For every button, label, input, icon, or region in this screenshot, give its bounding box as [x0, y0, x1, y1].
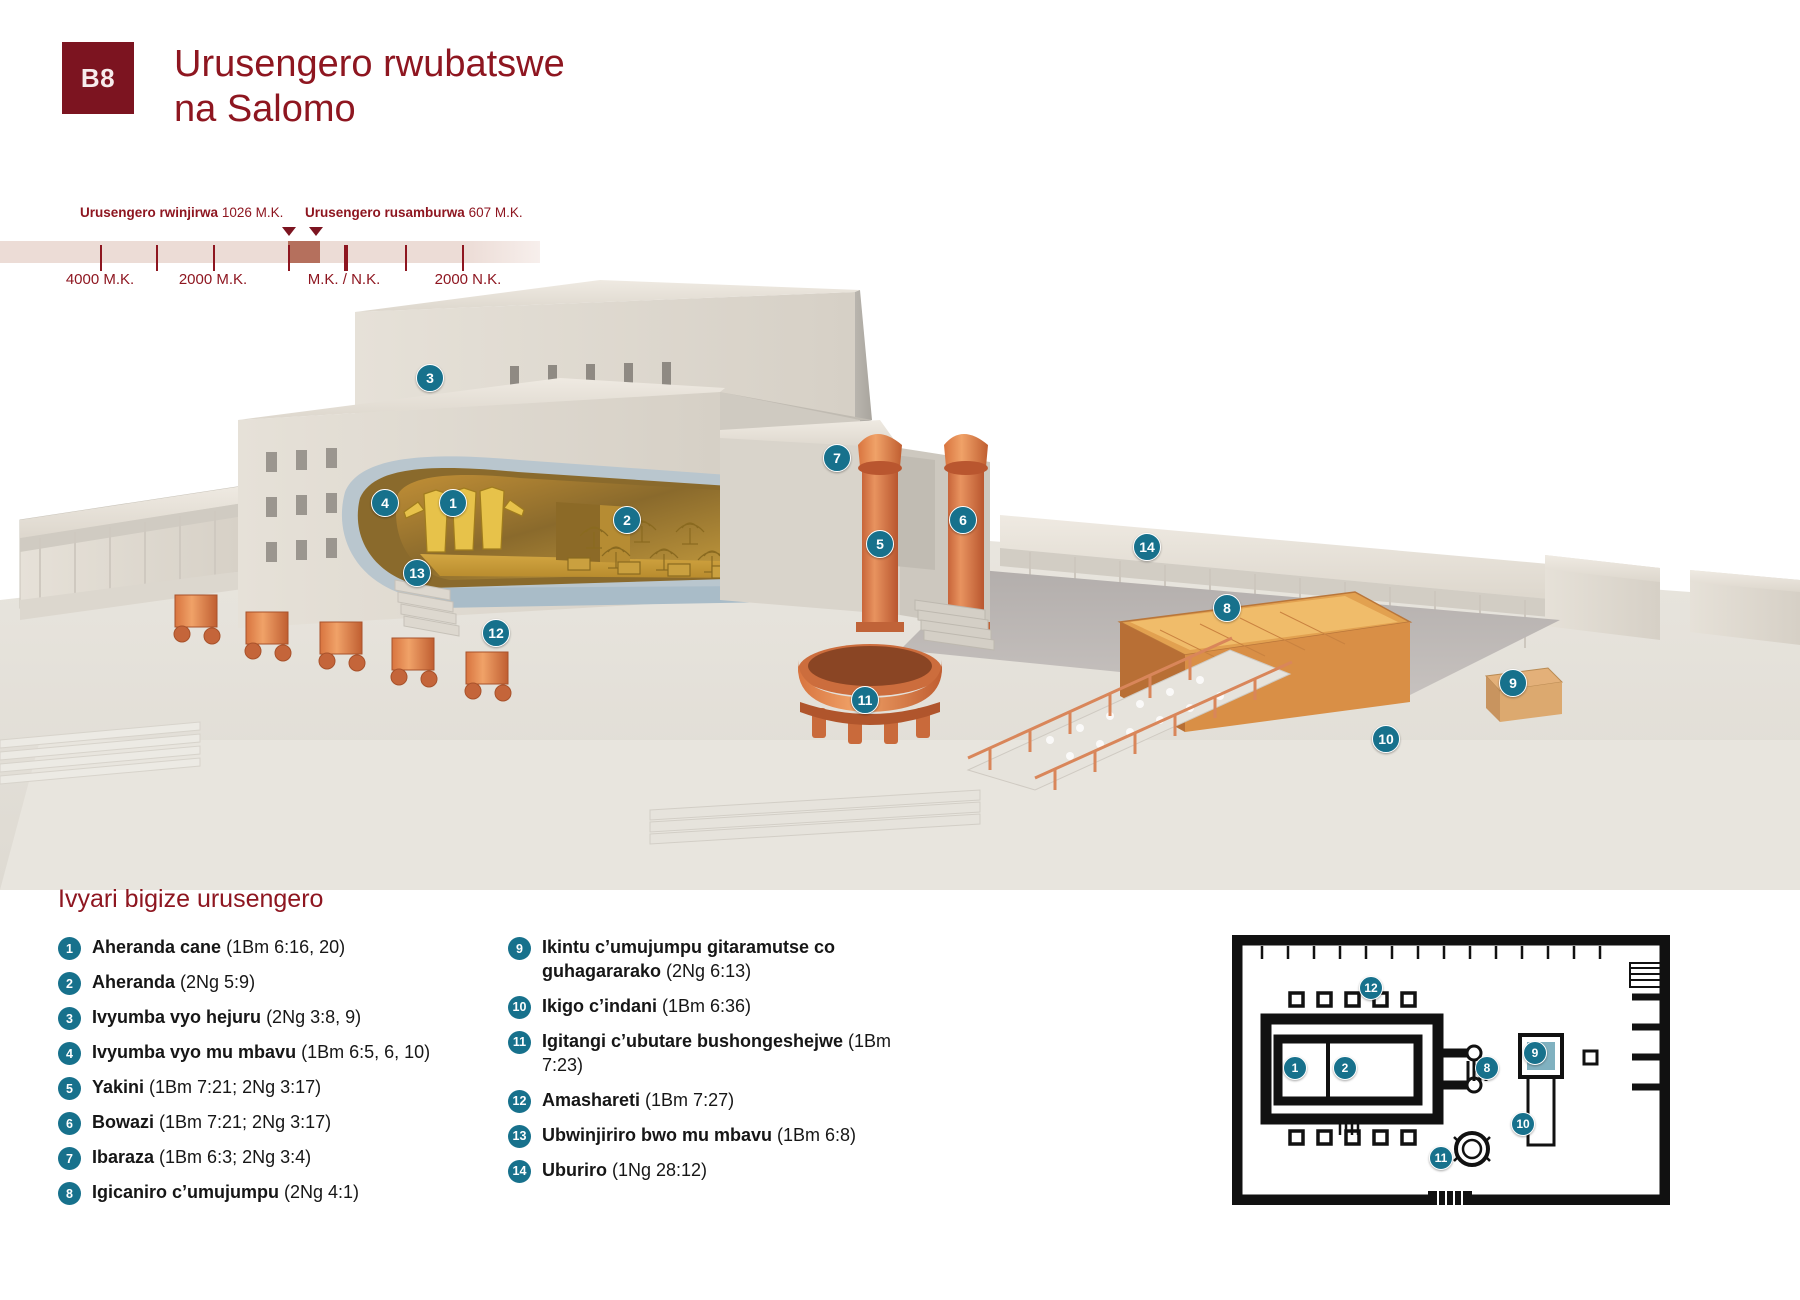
- temple-illustration: [0, 270, 1800, 870]
- legend-name-11: Igitangi c’ubutare bushongeshejwe: [542, 1031, 843, 1051]
- legend-marker-3: 3: [58, 1007, 81, 1030]
- legend-name-6: Bowazi: [92, 1112, 154, 1132]
- legend-marker-2: 2: [58, 972, 81, 995]
- legend-text-5: Yakini (1Bm 7:21; 2Ng 3:17): [92, 1076, 321, 1100]
- legend-column-right: 9Ikintu c’umujumpu gitaramutse co guhaga…: [508, 936, 908, 1216]
- legend-ref-1: (1Bm 6:16, 20): [221, 937, 345, 957]
- legend-marker-4: 4: [58, 1042, 81, 1065]
- timeline-event-1-label: Urusengero rusamburwa: [305, 205, 465, 220]
- floorplan-marker-11: 11: [1429, 1146, 1453, 1170]
- temple-illustration-svg: [0, 270, 1800, 890]
- legend-item-2: 2Aheranda (2Ng 5:9): [58, 971, 458, 995]
- page-title-line2: na Salomo: [174, 87, 565, 132]
- legend-text-10: Ikigo c’indani (1Bm 6:36): [542, 995, 751, 1019]
- page-header: B8 Urusengero rwubatswe na Salomo: [62, 42, 565, 132]
- legend-ref-7: (1Bm 6:3; 2Ng 3:4): [154, 1147, 311, 1167]
- floorplan-marker-1: 1: [1283, 1056, 1307, 1080]
- legend-item-11: 11Igitangi c’ubutare bushongeshejwe (1Bm…: [508, 1030, 908, 1078]
- legend-item-5: 5Yakini (1Bm 7:21; 2Ng 3:17): [58, 1076, 458, 1100]
- legend-marker-5: 5: [58, 1077, 81, 1100]
- timeline-tick: [288, 245, 290, 271]
- legend-marker-7: 7: [58, 1147, 81, 1170]
- legend-marker-13: 13: [508, 1125, 531, 1148]
- legend-name-7: Ibaraza: [92, 1147, 154, 1167]
- floorplan-marker-12: 12: [1359, 976, 1383, 1000]
- legend-name-3: Ivyumba vyo hejuru: [92, 1007, 261, 1027]
- legend-text-7: Ibaraza (1Bm 6:3; 2Ng 3:4): [92, 1146, 311, 1170]
- timeline-highlight-span: [288, 241, 320, 263]
- legend-item-10: 10Ikigo c’indani (1Bm 6:36): [508, 995, 908, 1019]
- legend-text-12: Amashareti (1Bm 7:27): [542, 1089, 734, 1113]
- timeline: Urusengero rwinjirwa 1026 M.K. Urusenger…: [0, 205, 540, 275]
- legend-ref-13: (1Bm 6:8): [772, 1125, 856, 1145]
- timeline-tick: [405, 245, 407, 271]
- legend-text-9: Ikintu c’umujumpu gitaramutse co guhagar…: [542, 936, 908, 984]
- legend-marker-6: 6: [58, 1112, 81, 1135]
- legend: Ivyari bigize urusengero 1Aheranda cane …: [58, 885, 958, 1216]
- timeline-tick: [462, 245, 464, 271]
- floorplan-marker-9: 9: [1523, 1041, 1547, 1065]
- porch-entry: [895, 455, 935, 570]
- legend-marker-9: 9: [508, 937, 531, 960]
- legend-item-3: 3Ivyumba vyo hejuru (2Ng 3:8, 9): [58, 1006, 458, 1030]
- legend-title: Ivyari bigize urusengero: [58, 885, 958, 914]
- legend-item-12: 12Amashareti (1Bm 7:27): [508, 1089, 908, 1113]
- legend-ref-2: (2Ng 5:9): [175, 972, 255, 992]
- legend-text-4: Ivyumba vyo mu mbavu (1Bm 6:5, 6, 10): [92, 1041, 430, 1065]
- legend-marker-8: 8: [58, 1182, 81, 1205]
- floorplan-inset: 1212891011: [1232, 935, 1670, 1205]
- illustration-marker-13: 13: [403, 559, 431, 587]
- legend-marker-10: 10: [508, 996, 531, 1019]
- legend-marker-12: 12: [508, 1090, 531, 1113]
- timeline-event-0-year: 1026 M.K.: [222, 205, 284, 220]
- legend-name-13: Ubwinjiriro bwo mu mbavu: [542, 1125, 772, 1145]
- legend-item-13: 13Ubwinjiriro bwo mu mbavu (1Bm 6:8): [508, 1124, 908, 1148]
- legend-ref-5: (1Bm 7:21; 2Ng 3:17): [144, 1077, 321, 1097]
- illustration-marker-3: 3: [416, 364, 444, 392]
- timeline-marker-arrow: [282, 227, 296, 236]
- timeline-bar: [0, 241, 540, 263]
- illustration-marker-12: 12: [482, 619, 510, 647]
- section-badge: B8: [62, 42, 134, 114]
- legend-item-6: 6Bowazi (1Bm 7:21; 2Ng 3:17): [58, 1111, 458, 1135]
- legend-item-9: 9Ikintu c’umujumpu gitaramutse co guhaga…: [508, 936, 908, 984]
- legend-ref-14: (1Ng 28:12): [607, 1160, 707, 1180]
- page-title-line1: Urusengero rwubatswe: [174, 42, 565, 87]
- illustration-marker-9: 9: [1499, 669, 1527, 697]
- illustration-marker-5: 5: [866, 530, 894, 558]
- floorplan-marker-2: 2: [1333, 1056, 1357, 1080]
- legend-marker-11: 11: [508, 1031, 531, 1054]
- illustration-marker-14: 14: [1133, 533, 1161, 561]
- timeline-marker-arrow: [309, 227, 323, 236]
- legend-item-7: 7Ibaraza (1Bm 6:3; 2Ng 3:4): [58, 1146, 458, 1170]
- illustration-marker-2: 2: [613, 506, 641, 534]
- legend-text-8: Igicaniro c’umujumpu (2Ng 4:1): [92, 1181, 359, 1205]
- timeline-tick-major: [344, 245, 348, 271]
- floorplan-marker-10: 10: [1511, 1112, 1535, 1136]
- legend-text-14: Uburiro (1Ng 28:12): [542, 1159, 707, 1183]
- legend-name-4: Ivyumba vyo mu mbavu: [92, 1042, 296, 1062]
- timeline-event-1: Urusengero rusamburwa 607 M.K.: [305, 205, 523, 220]
- legend-ref-8: (2Ng 4:1): [279, 1182, 359, 1202]
- timeline-tick: [156, 245, 158, 271]
- legend-column-left: 1Aheranda cane (1Bm 6:16, 20)2Aheranda (…: [58, 936, 458, 1216]
- legend-text-1: Aheranda cane (1Bm 6:16, 20): [92, 936, 345, 960]
- timeline-event-1-year: 607 M.K.: [469, 205, 523, 220]
- legend-marker-1: 1: [58, 937, 81, 960]
- timeline-event-0-label: Urusengero rwinjirwa: [80, 205, 218, 220]
- legend-item-14: 14Uburiro (1Ng 28:12): [508, 1159, 908, 1183]
- legend-name-1: Aheranda cane: [92, 937, 221, 957]
- illustration-marker-1: 1: [439, 489, 467, 517]
- legend-ref-9: (2Ng 6:13): [661, 961, 751, 981]
- legend-name-14: Uburiro: [542, 1160, 607, 1180]
- legend-text-13: Ubwinjiriro bwo mu mbavu (1Bm 6:8): [542, 1124, 856, 1148]
- page-title: Urusengero rwubatswe na Salomo: [174, 42, 565, 132]
- legend-item-4: 4Ivyumba vyo mu mbavu (1Bm 6:5, 6, 10): [58, 1041, 458, 1065]
- illustration-marker-6: 6: [949, 506, 977, 534]
- page-root: B8 Urusengero rwubatswe na Salomo Urusen…: [0, 0, 1800, 1300]
- floorplan-marker-8: 8: [1475, 1056, 1499, 1080]
- legend-item-8: 8Igicaniro c’umujumpu (2Ng 4:1): [58, 1181, 458, 1205]
- timeline-tick: [213, 245, 215, 271]
- legend-ref-6: (1Bm 7:21; 2Ng 3:17): [154, 1112, 331, 1132]
- legend-text-11: Igitangi c’ubutare bushongeshejwe (1Bm 7…: [542, 1030, 908, 1078]
- illustration-marker-11: 11: [851, 686, 879, 714]
- timeline-tick: [100, 245, 102, 271]
- illustration-marker-10: 10: [1372, 725, 1400, 753]
- legend-marker-14: 14: [508, 1160, 531, 1183]
- legend-name-8: Igicaniro c’umujumpu: [92, 1182, 279, 1202]
- legend-ref-12: (1Bm 7:27): [640, 1090, 734, 1110]
- legend-text-6: Bowazi (1Bm 7:21; 2Ng 3:17): [92, 1111, 331, 1135]
- legend-name-5: Yakini: [92, 1077, 144, 1097]
- floorplan-markers: 1212891011: [1232, 935, 1670, 1205]
- legend-text-3: Ivyumba vyo hejuru (2Ng 3:8, 9): [92, 1006, 361, 1030]
- legend-name-10: Ikigo c’indani: [542, 996, 657, 1016]
- legend-text-2: Aheranda (2Ng 5:9): [92, 971, 255, 995]
- legend-name-12: Amashareti: [542, 1090, 640, 1110]
- legend-item-1: 1Aheranda cane (1Bm 6:16, 20): [58, 936, 458, 960]
- timeline-event-0: Urusengero rwinjirwa 1026 M.K.: [80, 205, 283, 220]
- legend-ref-3: (2Ng 3:8, 9): [261, 1007, 361, 1027]
- illustration-marker-8: 8: [1213, 594, 1241, 622]
- illustration-marker-4: 4: [371, 489, 399, 517]
- legend-name-2: Aheranda: [92, 972, 175, 992]
- legend-ref-4: (1Bm 6:5, 6, 10): [296, 1042, 430, 1062]
- legend-ref-10: (1Bm 6:36): [657, 996, 751, 1016]
- illustration-marker-7: 7: [823, 444, 851, 472]
